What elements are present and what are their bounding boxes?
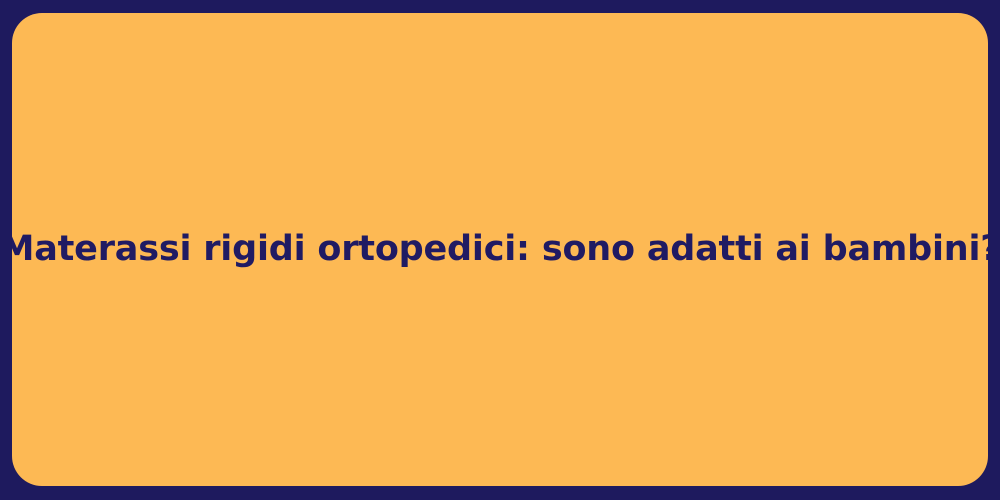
banner-root: Materassi rigidi ortopedici: sono adatti… [0, 0, 1000, 500]
banner-headline: Materassi rigidi ortopedici: sono adatti… [12, 228, 988, 272]
headline-container: Materassi rigidi ortopedici: sono adatti… [12, 228, 988, 272]
banner-panel: Materassi rigidi ortopedici: sono adatti… [12, 13, 988, 486]
